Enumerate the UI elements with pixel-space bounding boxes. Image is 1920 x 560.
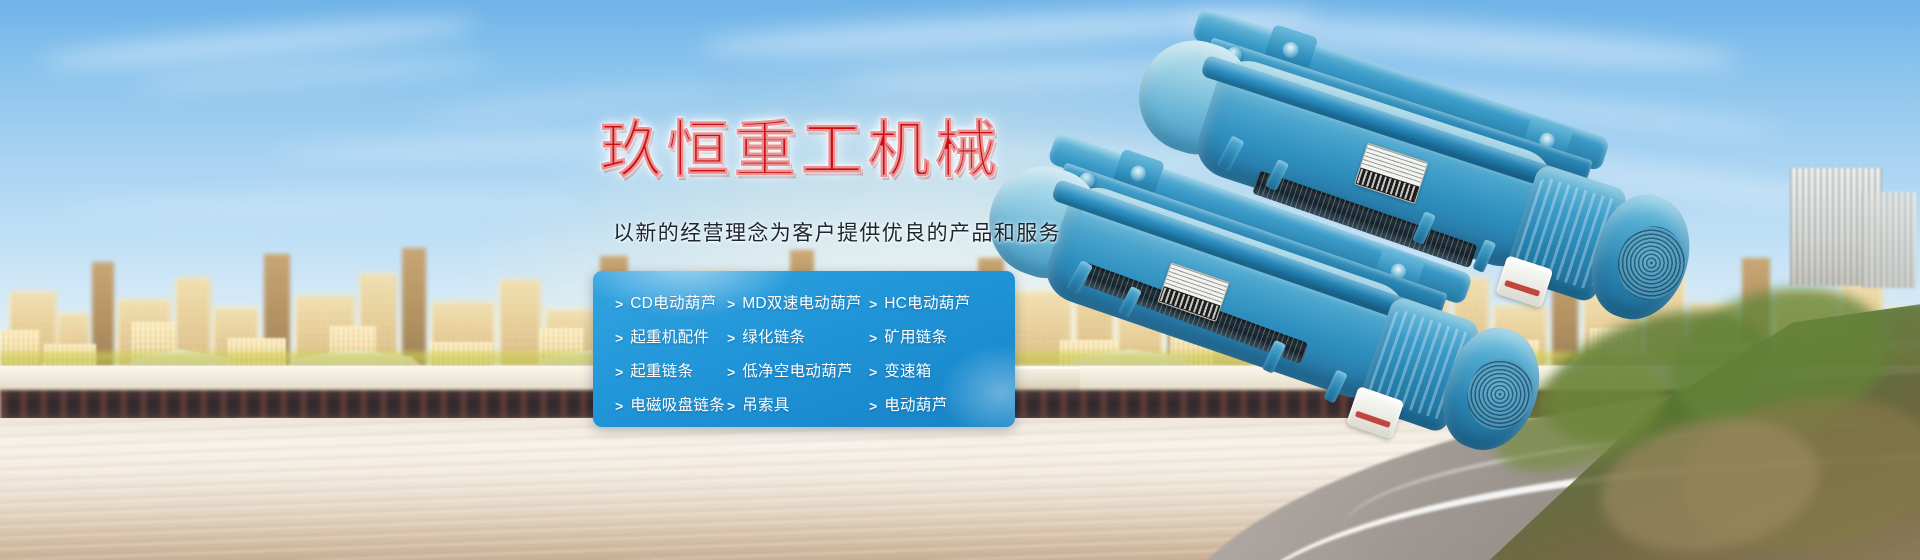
product-link-label: 电动葫芦 <box>884 398 947 414</box>
product-link[interactable]: >低净空电动葫芦 <box>727 355 869 389</box>
chevron-right-icon: > <box>615 365 623 379</box>
product-link-label: HC电动葫芦 <box>884 296 970 312</box>
product-link-label: 吊索具 <box>742 398 789 414</box>
product-link[interactable]: >HC电动葫芦 <box>869 287 1015 321</box>
product-link[interactable]: >绿化链条 <box>727 321 869 355</box>
chevron-right-icon: > <box>869 365 877 379</box>
product-links-panel: >CD电动葫芦>MD双速电动葫芦>HC电动葫芦>起重机配件>绿化链条>矿用链条>… <box>593 271 1015 427</box>
product-link[interactable]: >起重机配件 <box>615 321 727 355</box>
product-link-label: 低净空电动葫芦 <box>742 364 853 380</box>
product-link[interactable]: >MD双速电动葫芦 <box>727 287 869 321</box>
product-link[interactable]: >电磁吸盘链条 <box>615 389 727 423</box>
page-title: 玖恒重工机械 <box>600 120 1002 182</box>
product-link-label: 电磁吸盘链条 <box>630 398 725 414</box>
product-link[interactable]: >吊索具 <box>727 389 869 423</box>
product-link[interactable]: >起重链条 <box>615 355 727 389</box>
chevron-right-icon: > <box>869 297 877 311</box>
product-link[interactable]: >矿用链条 <box>869 321 1015 355</box>
chevron-right-icon: > <box>615 331 623 345</box>
chevron-right-icon: > <box>727 365 735 379</box>
chevron-right-icon: > <box>869 399 877 413</box>
chevron-right-icon: > <box>615 399 623 413</box>
product-link-label: 变速箱 <box>884 364 931 380</box>
product-link-label: 绿化链条 <box>742 330 805 346</box>
chevron-right-icon: > <box>869 331 877 345</box>
product-links-grid: >CD电动葫芦>MD双速电动葫芦>HC电动葫芦>起重机配件>绿化链条>矿用链条>… <box>593 271 1015 427</box>
chevron-right-icon: > <box>727 399 735 413</box>
page-subtitle: 以新的经营理念为客户提供优良的产品和服务 <box>613 217 1061 247</box>
product-link[interactable]: >变速箱 <box>869 355 1015 389</box>
product-link-label: 起重机配件 <box>630 330 709 346</box>
chevron-right-icon: > <box>727 331 735 345</box>
hero-banner: 玖恒重工机械 以新的经营理念为客户提供优良的产品和服务 >CD电动葫芦>MD双速… <box>0 0 1920 560</box>
product-link-label: 起重链条 <box>630 364 693 380</box>
background-tower <box>1862 192 1916 288</box>
chevron-right-icon: > <box>727 297 735 311</box>
chevron-right-icon: > <box>615 297 623 311</box>
product-link-label: 矿用链条 <box>884 330 947 346</box>
product-link[interactable]: >CD电动葫芦 <box>615 287 727 321</box>
product-link-label: CD电动葫芦 <box>630 296 716 312</box>
product-link-label: MD双速电动葫芦 <box>742 296 862 312</box>
product-link[interactable]: >电动葫芦 <box>869 389 1015 423</box>
